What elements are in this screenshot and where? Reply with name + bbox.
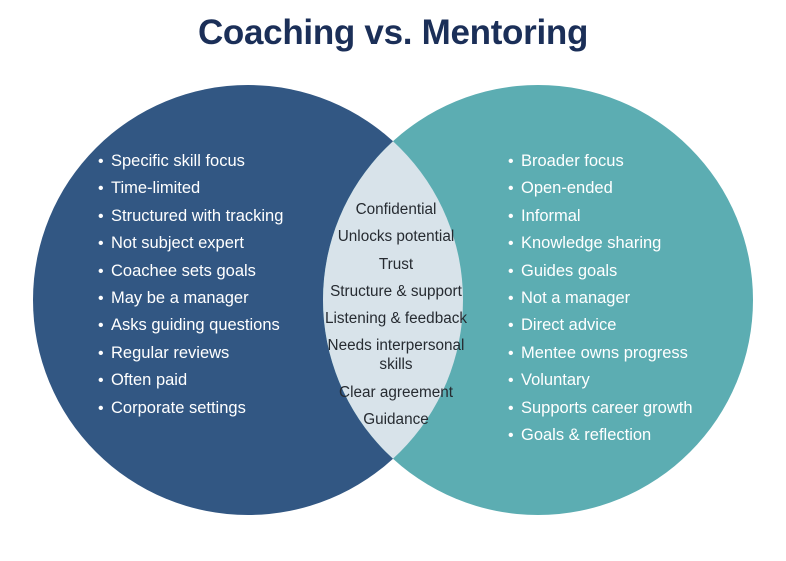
- list-item: Structure & support: [311, 282, 481, 301]
- list-item-label: Not subject expert: [111, 234, 328, 253]
- bullet-icon: •: [98, 262, 111, 281]
- bullet-icon: •: [98, 179, 111, 198]
- list-item-label: Open-ended: [521, 179, 743, 198]
- bullet-icon: •: [508, 289, 521, 308]
- bullet-icon: •: [508, 344, 521, 363]
- list-item: Clear agreement: [311, 383, 481, 402]
- list-item-label: Broader focus: [521, 152, 743, 171]
- list-item: • Open-ended: [508, 179, 743, 206]
- list-item-label: Direct advice: [521, 316, 743, 335]
- list-item: • May be a manager: [98, 289, 328, 316]
- list-item-label: Asks guiding questions: [111, 316, 328, 335]
- list-item: • Direct advice: [508, 316, 743, 343]
- bullet-icon: •: [508, 207, 521, 226]
- list-item: • Voluntary: [508, 371, 743, 398]
- list-item: Guidance: [311, 410, 481, 429]
- bullet-icon: •: [98, 207, 111, 226]
- bullet-icon: •: [98, 399, 111, 418]
- bullet-icon: •: [508, 262, 521, 281]
- list-item-label: Often paid: [111, 371, 328, 390]
- bullet-icon: •: [508, 234, 521, 253]
- list-item: • Guides goals: [508, 262, 743, 289]
- list-item: • Regular reviews: [98, 344, 328, 371]
- bullet-icon: •: [98, 344, 111, 363]
- list-item-label: Not a manager: [521, 289, 743, 308]
- list-item: • Supports career growth: [508, 399, 743, 426]
- list-item-label: Corporate settings: [111, 399, 328, 418]
- list-item-label: May be a manager: [111, 289, 328, 308]
- list-item: Listening & feedback: [311, 309, 481, 328]
- list-item: • Time-limited: [98, 179, 328, 206]
- list-item-label: Structured with tracking: [111, 207, 328, 226]
- list-item: • Mentee owns progress: [508, 344, 743, 371]
- bullet-icon: •: [98, 152, 111, 171]
- list-item-label: Guides goals: [521, 262, 743, 281]
- bullet-icon: •: [98, 289, 111, 308]
- list-item: Confidential: [311, 200, 481, 219]
- bullet-icon: •: [508, 399, 521, 418]
- bullet-icon: •: [508, 371, 521, 390]
- bullet-icon: •: [508, 179, 521, 198]
- bullet-icon: •: [508, 316, 521, 335]
- bullet-icon: •: [98, 316, 111, 335]
- bullet-icon: •: [98, 234, 111, 253]
- left-items-list: • Specific skill focus • Time-limited • …: [98, 152, 328, 426]
- list-item: • Corporate settings: [98, 399, 328, 426]
- list-item: • Goals & reflection: [508, 426, 743, 453]
- list-item: • Knowledge sharing: [508, 234, 743, 261]
- list-item: Trust: [311, 255, 481, 274]
- right-items-list: • Broader focus • Open-ended • Informal …: [508, 152, 743, 453]
- list-item-label: Coachee sets goals: [111, 262, 328, 281]
- list-item: • Informal: [508, 207, 743, 234]
- list-item-label: Supports career growth: [521, 399, 743, 418]
- venn-diagram-canvas: Coaching vs. Mentoring • Specific skill …: [0, 0, 786, 561]
- bullet-icon: •: [98, 371, 111, 390]
- list-item-label: Voluntary: [521, 371, 743, 390]
- list-item: • Often paid: [98, 371, 328, 398]
- list-item: • Specific skill focus: [98, 152, 328, 179]
- list-item-label: Goals & reflection: [521, 426, 743, 445]
- list-item-label: Specific skill focus: [111, 152, 328, 171]
- list-item: Unlocks potential: [311, 227, 481, 246]
- list-item: • Asks guiding questions: [98, 316, 328, 343]
- list-item: • Broader focus: [508, 152, 743, 179]
- list-item-label: Knowledge sharing: [521, 234, 743, 253]
- bullet-icon: •: [508, 152, 521, 171]
- list-item-label: Informal: [521, 207, 743, 226]
- list-item: • Coachee sets goals: [98, 262, 328, 289]
- list-item: Needs interpersonal skills: [311, 336, 481, 374]
- list-item-label: Time-limited: [111, 179, 328, 198]
- list-item-label: Regular reviews: [111, 344, 328, 363]
- list-item: • Not subject expert: [98, 234, 328, 261]
- list-item-label: Mentee owns progress: [521, 344, 743, 363]
- bullet-icon: •: [508, 426, 521, 445]
- list-item: • Structured with tracking: [98, 207, 328, 234]
- list-item: • Not a manager: [508, 289, 743, 316]
- center-items-list: Confidential Unlocks potential Trust Str…: [311, 200, 481, 437]
